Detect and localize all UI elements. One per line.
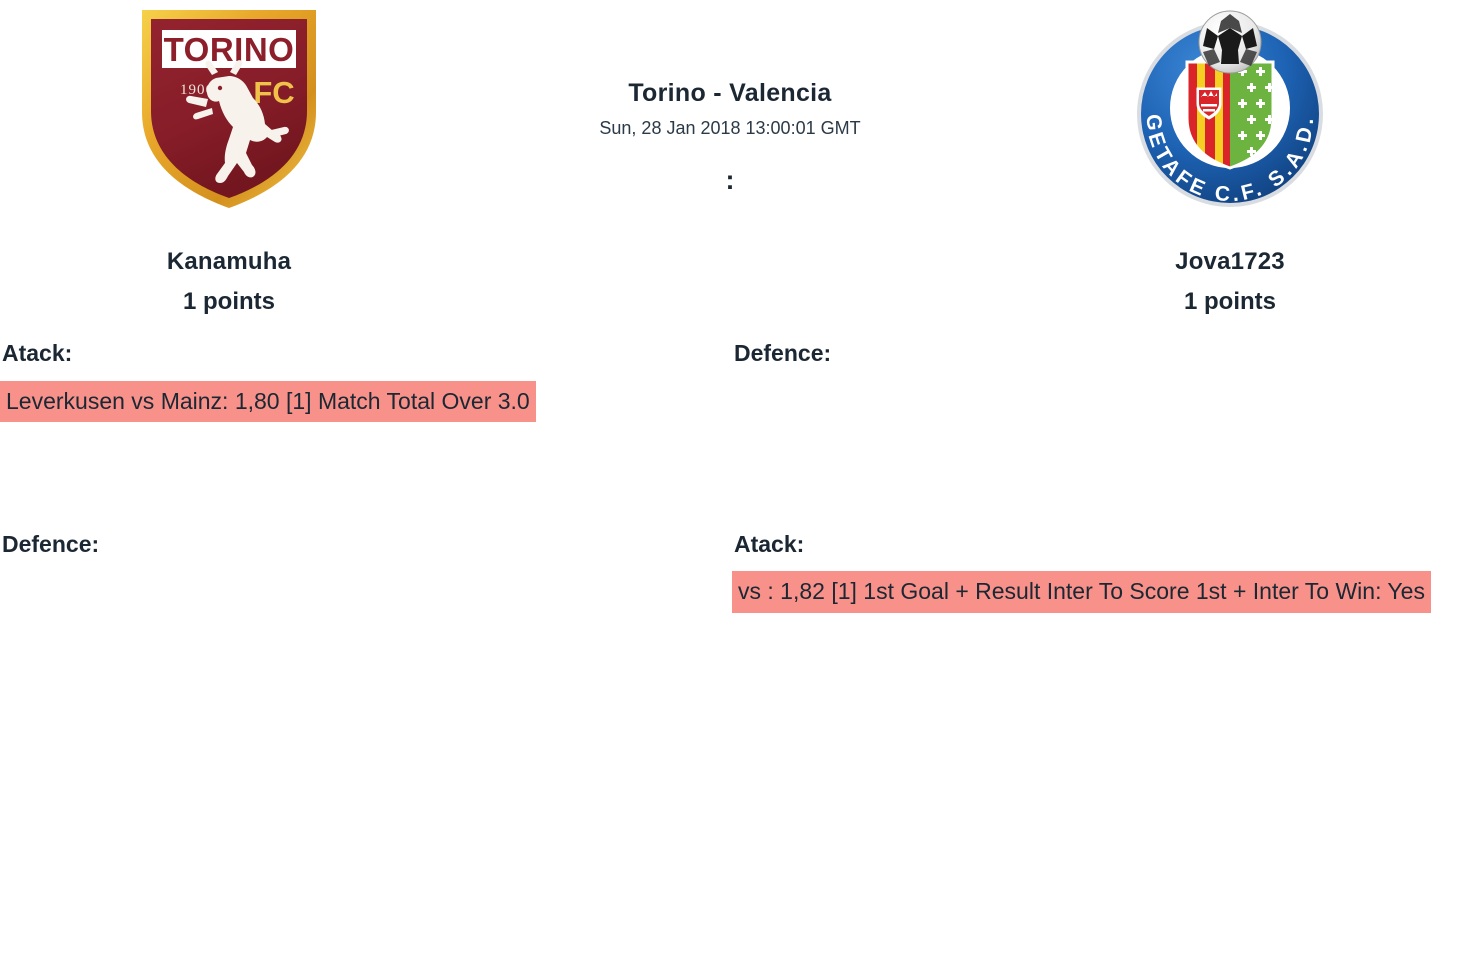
home-attack-section: Atack: Leverkusen vs Mainz: 1,80 [1] Mat… [0, 340, 728, 423]
home-team-crest[interactable]: TORINO 1906 FC [29, 0, 429, 232]
away-attack-section: Atack: vs : 1,82 [1] 1st Goal + Result I… [732, 531, 1460, 614]
away-bets-column: Defence: Atack: vs : 1,82 [1] 1st Goal +… [732, 340, 1460, 613]
away-team-block: GETAFE C.F. S.A.D. Jova1723 1 points [1030, 0, 1430, 315]
getafe-cf-crest-icon: GETAFE C.F. S.A.D. [1125, 0, 1335, 212]
svg-text:TORINO: TORINO [164, 31, 295, 68]
away-manager-name: Jova1723 [1030, 248, 1430, 276]
home-defence-section: Defence: [0, 531, 728, 614]
match-datetime: Sun, 28 Jan 2018 13:00:01 GMT [430, 118, 1030, 140]
match-info: Torino - Valencia Sun, 28 Jan 2018 13:00… [430, 0, 1030, 195]
home-column-spacer [0, 423, 728, 531]
svg-text:FC: FC [253, 75, 294, 110]
match-header: TORINO 1906 FC [0, 0, 1460, 340]
home-team-block: TORINO 1906 FC [29, 0, 429, 315]
home-defence-label: Defence: [0, 531, 728, 559]
away-defence-label: Defence: [732, 340, 1460, 368]
away-column-spacer [732, 423, 1460, 531]
bet-item[interactable]: Leverkusen vs Mainz: 1,80 [1] Match Tota… [0, 381, 536, 423]
home-manager-name: Kanamuha [29, 248, 429, 276]
football-icon [1199, 11, 1261, 73]
away-defence-bet-list [732, 381, 1460, 423]
away-defence-section: Defence: [732, 340, 1460, 423]
match-title: Torino - Valencia [430, 78, 1030, 108]
home-bets-column: Atack: Leverkusen vs Mainz: 1,80 [1] Mat… [0, 340, 728, 613]
away-attack-label: Atack: [732, 531, 1460, 559]
torino-fc-crest-icon: TORINO 1906 FC [134, 0, 324, 212]
home-attack-label: Atack: [0, 340, 728, 368]
away-team-crest[interactable]: GETAFE C.F. S.A.D. [1030, 0, 1430, 232]
away-points: 1 points [1030, 288, 1430, 316]
home-defence-bet-list [0, 571, 728, 613]
home-attack-bet-list: Leverkusen vs Mainz: 1,80 [1] Match Tota… [0, 381, 728, 423]
home-points: 1 points [29, 288, 429, 316]
away-attack-bet-list: vs : 1,82 [1] 1st Goal + Result Inter To… [732, 571, 1460, 613]
bet-item[interactable]: vs : 1,82 [1] 1st Goal + Result Inter To… [732, 571, 1431, 613]
match-score: : [430, 166, 1030, 196]
